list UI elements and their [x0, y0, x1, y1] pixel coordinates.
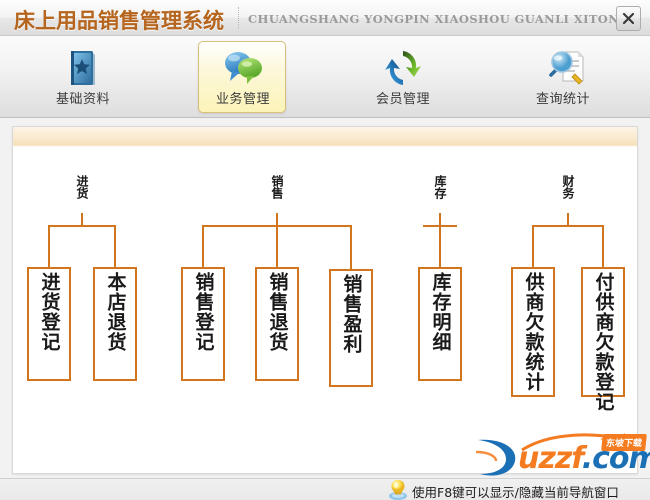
circular-arrows-icon — [359, 46, 447, 88]
connector-drop — [48, 225, 50, 269]
node-supplier-debt-statistics[interactable]: 供商欠款统计 — [511, 267, 555, 397]
group-label-sales: 销售 — [271, 175, 283, 199]
title-divider — [238, 7, 239, 29]
navigation-diagram: 进货 进货登记 本店退货 销售 销售登记 销售退货 — [13, 127, 639, 475]
tab-label: 基础资料 — [39, 88, 127, 107]
node-sales-profit[interactable]: 销售盈利 — [329, 269, 373, 387]
group-label-inventory: 库存 — [434, 175, 446, 199]
connector-drop — [439, 225, 441, 269]
app-title-pinyin: CHUANGSHANG YONGPIN XIAOSHOU GUANLI XITO… — [248, 12, 629, 26]
tab-member-management[interactable]: 会员管理 — [358, 41, 446, 113]
tab-business-management[interactable]: 业务管理 — [198, 41, 286, 113]
application-window: 床上用品销售管理系统 CHUANGSHANG YONGPIN XIAOSHOU … — [0, 0, 650, 500]
connector-drop — [114, 225, 116, 269]
group-label-finance: 财务 — [562, 175, 574, 199]
app-title: 床上用品销售管理系统 — [14, 5, 224, 35]
tab-basic-data[interactable]: 基础资料 — [38, 41, 126, 113]
connector-drop — [276, 225, 278, 269]
node-supplier-debt-payment-registration[interactable]: 付供商欠款登记 — [581, 267, 625, 397]
close-button[interactable] — [616, 6, 641, 31]
connector-drop — [350, 225, 352, 269]
connector-drop — [602, 225, 604, 269]
speech-bubbles-icon — [199, 46, 287, 88]
node-sales-registration[interactable]: 销售登记 — [181, 267, 225, 381]
connector-drop — [532, 225, 534, 269]
main-toolbar: 基础资料 — [0, 36, 650, 118]
tab-label: 会员管理 — [359, 88, 447, 107]
title-bar: 床上用品销售管理系统 CHUANGSHANG YONGPIN XIAOSHOU … — [0, 0, 650, 36]
connector-bar — [533, 225, 603, 227]
connector-bar — [49, 225, 115, 227]
node-store-return[interactable]: 本店退货 — [93, 267, 137, 381]
node-purchase-registration[interactable]: 进货登记 — [27, 267, 71, 381]
node-sales-return[interactable]: 销售退货 — [255, 267, 299, 381]
navigation-panel: 进货 进货登记 本店退货 销售 销售登记 销售退货 — [12, 126, 638, 474]
tab-query-statistics[interactable]: 查询统计 — [518, 41, 606, 113]
connector-drop — [202, 225, 204, 269]
magnifier-document-icon — [519, 46, 607, 88]
tab-label: 查询统计 — [519, 88, 607, 107]
tab-label: 业务管理 — [199, 88, 287, 107]
blue-book-star-icon — [39, 46, 127, 88]
status-bar: 使用F8键可以显示/隐藏当前导航窗口 — [0, 478, 650, 500]
node-inventory-detail[interactable]: 库存明细 — [418, 267, 462, 381]
group-label-purchase: 进货 — [76, 175, 88, 199]
status-hint-text: 使用F8键可以显示/隐藏当前导航窗口 — [412, 482, 619, 500]
